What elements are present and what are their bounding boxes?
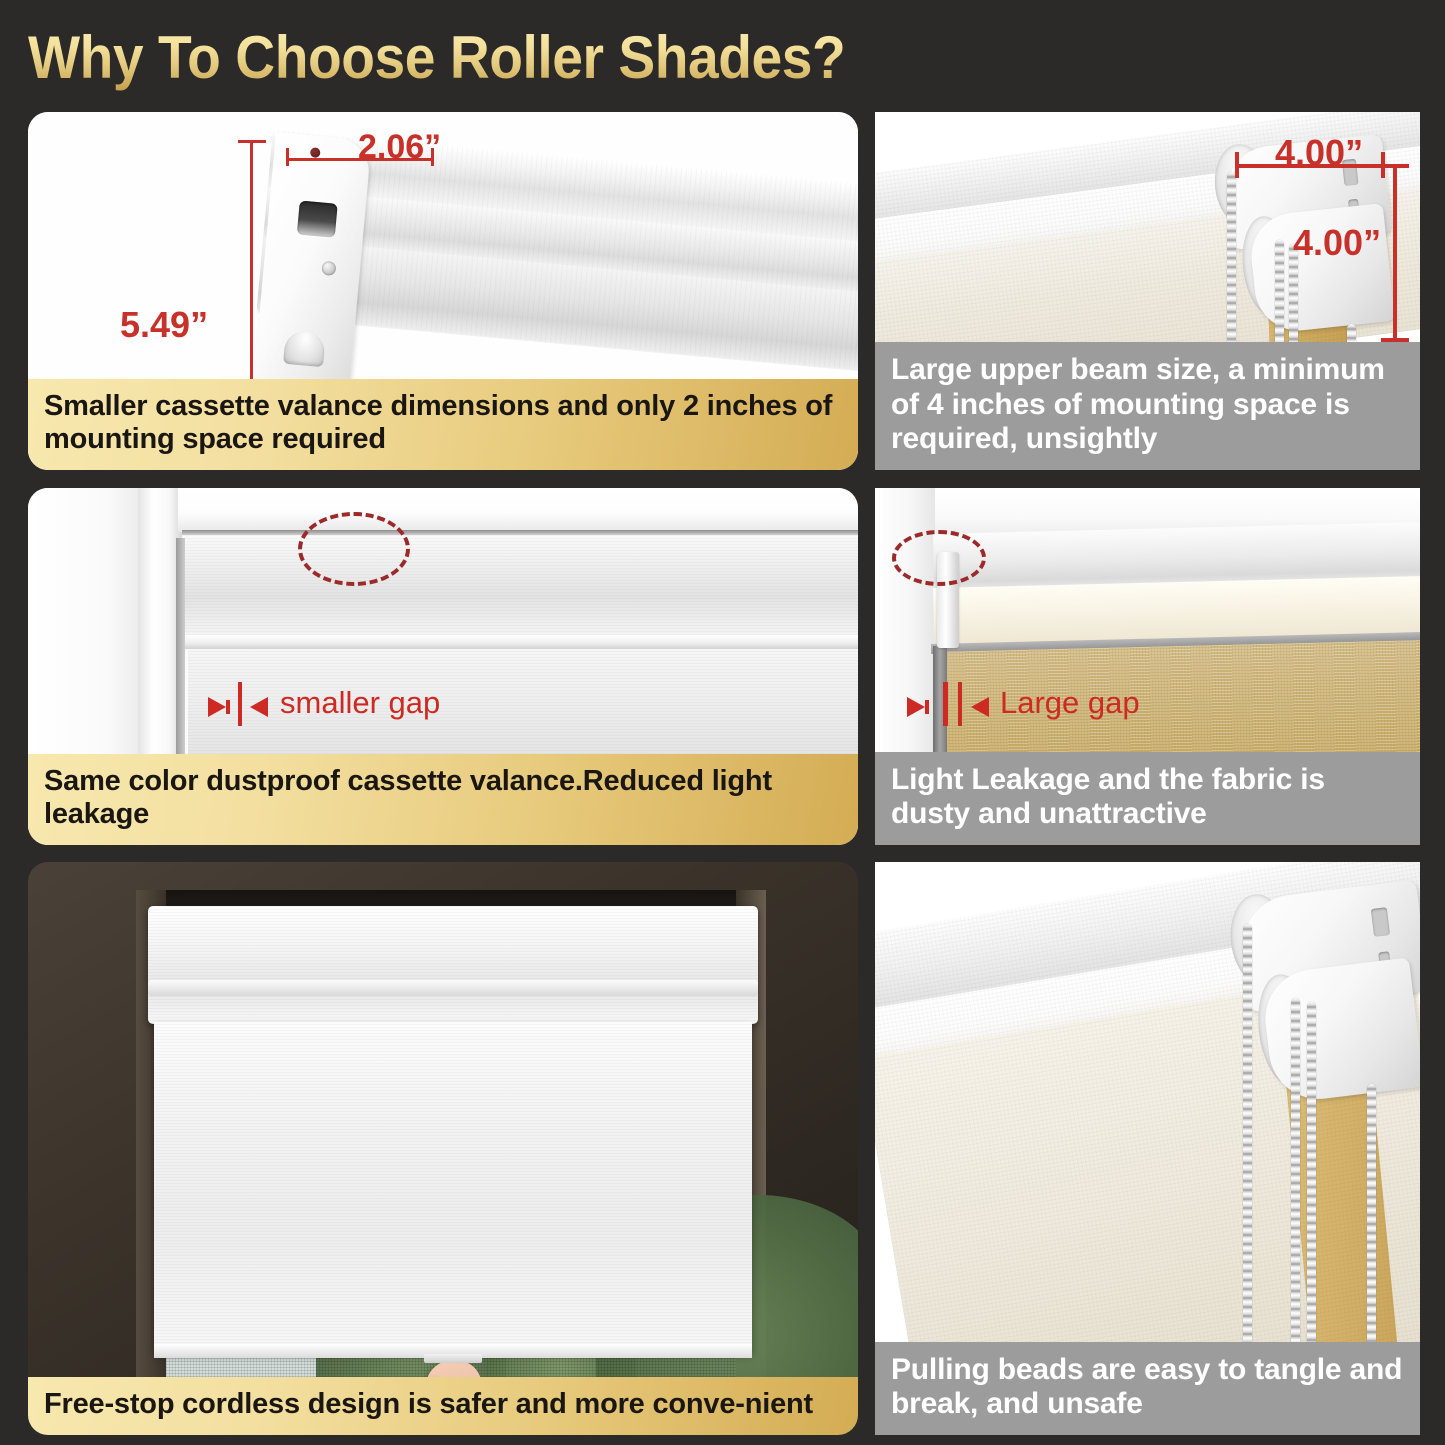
height-dimension-line: [1393, 164, 1397, 342]
mounting-bracket-lower: [1260, 957, 1420, 1104]
brushed-texture: [182, 535, 858, 635]
end-cap-dot: [310, 147, 321, 158]
height-dimension-label: 4.00”: [1293, 222, 1381, 264]
panel-cordless-design: Free-stop cordless design is safer and m…: [28, 862, 858, 1435]
panel-caption: Smaller cassette valance dimensions and …: [28, 379, 858, 470]
height-dimension-tick-top: [238, 140, 266, 143]
height-dimension-label: 5.49”: [120, 304, 208, 346]
panel-pulling-beads: Pulling beads are easy to tangle and bre…: [875, 862, 1420, 1435]
width-dimension-label: 2.06”: [358, 128, 441, 167]
gap-label: Large gap: [1000, 685, 1140, 721]
end-cap-screw: [321, 261, 336, 276]
highlight-circle-icon: [892, 530, 986, 586]
gap-marker: [958, 682, 962, 726]
highlight-circle-icon: [298, 512, 410, 586]
panel-caption: Large upper beam size, a minimum of 4 in…: [875, 342, 1420, 470]
gap-tick: [226, 700, 230, 714]
gap-arrow-left-icon: [250, 697, 268, 717]
roller-shade-fabric: [154, 1022, 752, 1352]
width-dimension-label: 4.00”: [1275, 132, 1363, 174]
end-cap-slot: [297, 200, 338, 237]
panel-large-upper-beam: 4.00” 4.00” Large upper beam size, a min…: [875, 112, 1420, 470]
window-head-jamb: [178, 488, 858, 532]
width-dimension-tick-left: [286, 148, 289, 166]
gap-marker: [238, 682, 242, 726]
panel-caption: Free-stop cordless design is safer and m…: [28, 1377, 858, 1435]
brushed-texture: [148, 906, 758, 1024]
cassette-valance: [182, 535, 858, 635]
panel-smaller-cassette: 5.49” 2.06” Smaller cassette valance dim…: [28, 112, 858, 470]
panel-caption: Light Leakage and the fabric is dusty an…: [875, 752, 1420, 845]
panel-caption: Same color dustproof cassette valance.Re…: [28, 754, 858, 845]
height-dimension-tick-top: [1381, 164, 1409, 168]
valance-bottom-lip: [178, 635, 858, 649]
width-dimension-tick-left: [1235, 152, 1239, 178]
gap-arrow-left-icon: [971, 697, 989, 717]
cassette-valance: [148, 906, 758, 1024]
panel-caption: Pulling beads are easy to tangle and bre…: [875, 1342, 1420, 1435]
height-dimension-tick-bottom: [1381, 338, 1409, 342]
end-cap-wheel: [283, 330, 326, 367]
shade-pull-tab: [424, 1354, 482, 1363]
gap-tick: [925, 700, 929, 714]
gap-arrow-right-icon: [208, 697, 226, 717]
bracket-slot: [1371, 907, 1390, 937]
page-title: Why To Choose Roller Shades?: [28, 22, 948, 94]
brushed-texture: [154, 1022, 752, 1352]
valance-lip: [148, 980, 758, 996]
panel-dustproof-valance: Same color dustproof cassette valance.Re…: [28, 488, 858, 845]
gap-marker: [943, 682, 948, 726]
room-window-photo: [28, 862, 858, 1435]
gap-arrow-right-icon: [907, 697, 925, 717]
gap-label: smaller gap: [280, 685, 440, 721]
